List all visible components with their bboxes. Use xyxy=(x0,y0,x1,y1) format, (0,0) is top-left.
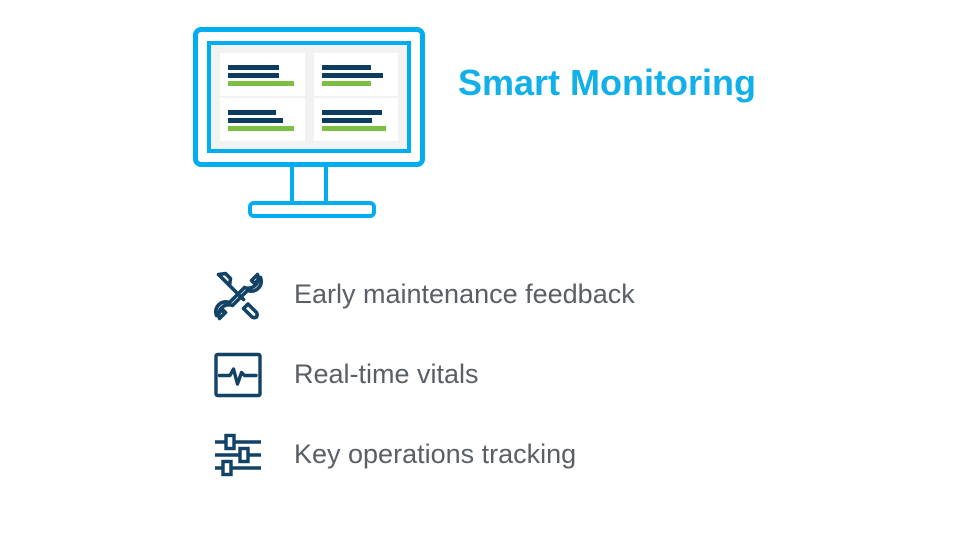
card-bar-green xyxy=(322,126,386,131)
feature-label: Key operations tracking xyxy=(294,440,576,470)
feature-list: Early maintenance feedback Real-time vit… xyxy=(0,255,960,495)
feature-item-real-time-vitals: Real-time vitals xyxy=(0,335,960,415)
card-bar-dark xyxy=(228,110,276,115)
card-bar-green xyxy=(228,81,294,86)
card-bar-dark xyxy=(228,65,279,70)
dashboard-card-bottom-left xyxy=(220,98,305,141)
monitor-stand-base xyxy=(248,201,376,218)
pulse-monitor-icon xyxy=(210,347,266,403)
monitor-screen xyxy=(211,45,407,149)
page-title: Smart Monitoring xyxy=(458,61,756,104)
dashboard-card-bottom-right xyxy=(314,98,399,141)
feature-item-early-maintenance-feedback: Early maintenance feedback xyxy=(0,255,960,335)
dashboard-card-top-left xyxy=(220,53,305,96)
feature-label: Early maintenance feedback xyxy=(294,280,635,310)
monitor-stand-neck xyxy=(290,167,328,203)
dashboard-card-top-right xyxy=(314,53,399,96)
monitor-inner-frame xyxy=(207,41,411,153)
card-bar-dark xyxy=(322,118,373,123)
card-bar-dark xyxy=(322,110,382,115)
tools-wrench-screwdriver-icon xyxy=(210,267,266,323)
monitor-outer-bezel xyxy=(193,27,425,167)
card-bar-green xyxy=(228,126,294,131)
card-bar-dark xyxy=(322,65,371,70)
feature-item-key-operations-tracking: Key operations tracking xyxy=(0,415,960,495)
slide-canvas: Smart Monitoring Early maintenance feedb… xyxy=(0,0,960,540)
card-bar-dark xyxy=(228,118,283,123)
hero-section: Smart Monitoring xyxy=(0,0,960,240)
card-bar-dark xyxy=(228,73,279,78)
sliders-settings-icon xyxy=(210,427,266,483)
monitor-illustration xyxy=(193,27,425,219)
card-bar-green xyxy=(322,81,371,86)
card-bar-dark xyxy=(322,73,384,78)
feature-label: Real-time vitals xyxy=(294,360,479,390)
